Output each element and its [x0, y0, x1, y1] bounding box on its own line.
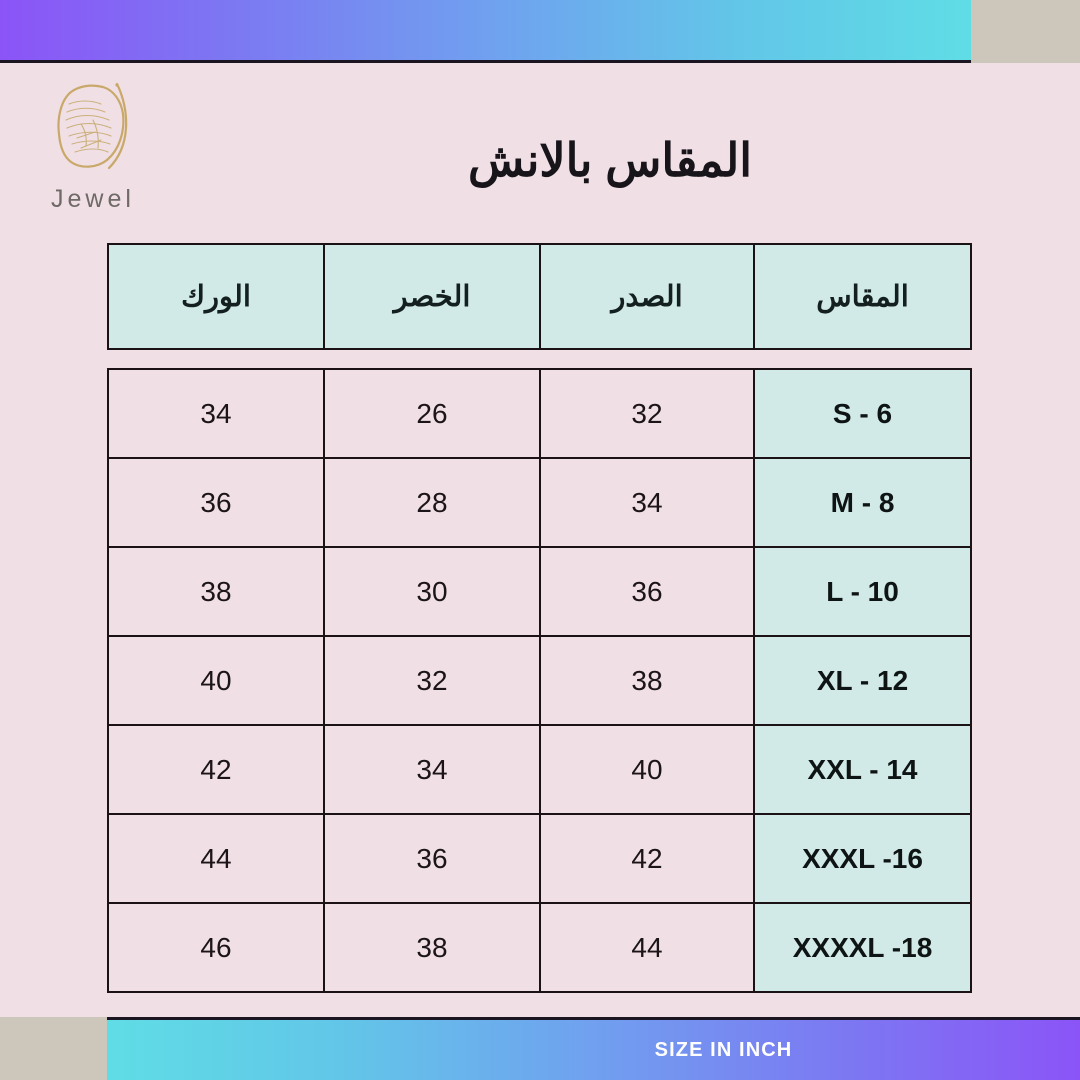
cell-waist: 36 — [324, 814, 540, 903]
cell-waist: 38 — [324, 903, 540, 992]
table-row: XXXL -16 42 36 44 — [108, 814, 971, 903]
footer-label: SIZE IN INCH — [655, 1039, 793, 1062]
table-row: XL - 12 38 32 40 — [108, 636, 971, 725]
cell-chest: 32 — [540, 369, 754, 458]
cell-waist: 28 — [324, 458, 540, 547]
cell-hip: 38 — [108, 547, 324, 636]
table-body: S - 6 32 26 34 M - 8 34 28 36 L - 10 36 … — [107, 368, 972, 993]
bottom-gradient-bar: SIZE IN INCH — [107, 1017, 1080, 1080]
column-header-hip: الورك — [108, 244, 324, 349]
cell-hip: 42 — [108, 725, 324, 814]
brand-name: Jewel — [33, 185, 153, 214]
table-row: XXL - 14 40 34 42 — [108, 725, 971, 814]
cell-chest: 36 — [540, 547, 754, 636]
column-header-chest: الصدر — [540, 244, 754, 349]
table-header-row: المقاس الصدر الخصر الورك — [108, 244, 971, 349]
table-row: XXXXL -18 44 38 46 — [108, 903, 971, 992]
cell-size: XXL - 14 — [754, 725, 971, 814]
cell-size: XXXL -16 — [754, 814, 971, 903]
cell-waist: 26 — [324, 369, 540, 458]
cell-waist: 32 — [324, 636, 540, 725]
cell-chest: 38 — [540, 636, 754, 725]
cell-chest: 34 — [540, 458, 754, 547]
table-row: L - 10 36 30 38 — [108, 547, 971, 636]
cell-hip: 34 — [108, 369, 324, 458]
cell-chest: 42 — [540, 814, 754, 903]
cell-hip: 46 — [108, 903, 324, 992]
page-title: المقاس بالانش — [70, 133, 1080, 187]
cell-waist: 30 — [324, 547, 540, 636]
column-header-size: المقاس — [754, 244, 971, 349]
column-header-waist: الخصر — [324, 244, 540, 349]
cell-size: XL - 12 — [754, 636, 971, 725]
table-row: S - 6 32 26 34 — [108, 369, 971, 458]
cell-chest: 40 — [540, 725, 754, 814]
table-header: المقاس الصدر الخصر الورك — [107, 243, 972, 350]
cell-size: S - 6 — [754, 369, 971, 458]
cell-hip: 40 — [108, 636, 324, 725]
cell-waist: 34 — [324, 725, 540, 814]
table-row: M - 8 34 28 36 — [108, 458, 971, 547]
cell-hip: 36 — [108, 458, 324, 547]
cell-chest: 44 — [540, 903, 754, 992]
top-gradient-bar — [0, 0, 971, 63]
cell-size: M - 8 — [754, 458, 971, 547]
cell-size: XXXXL -18 — [754, 903, 971, 992]
size-chart-canvas: Jewel المقاس بالانش المقاس الصدر الخصر ا… — [0, 0, 1080, 1080]
cell-hip: 44 — [108, 814, 324, 903]
cell-size: L - 10 — [754, 547, 971, 636]
